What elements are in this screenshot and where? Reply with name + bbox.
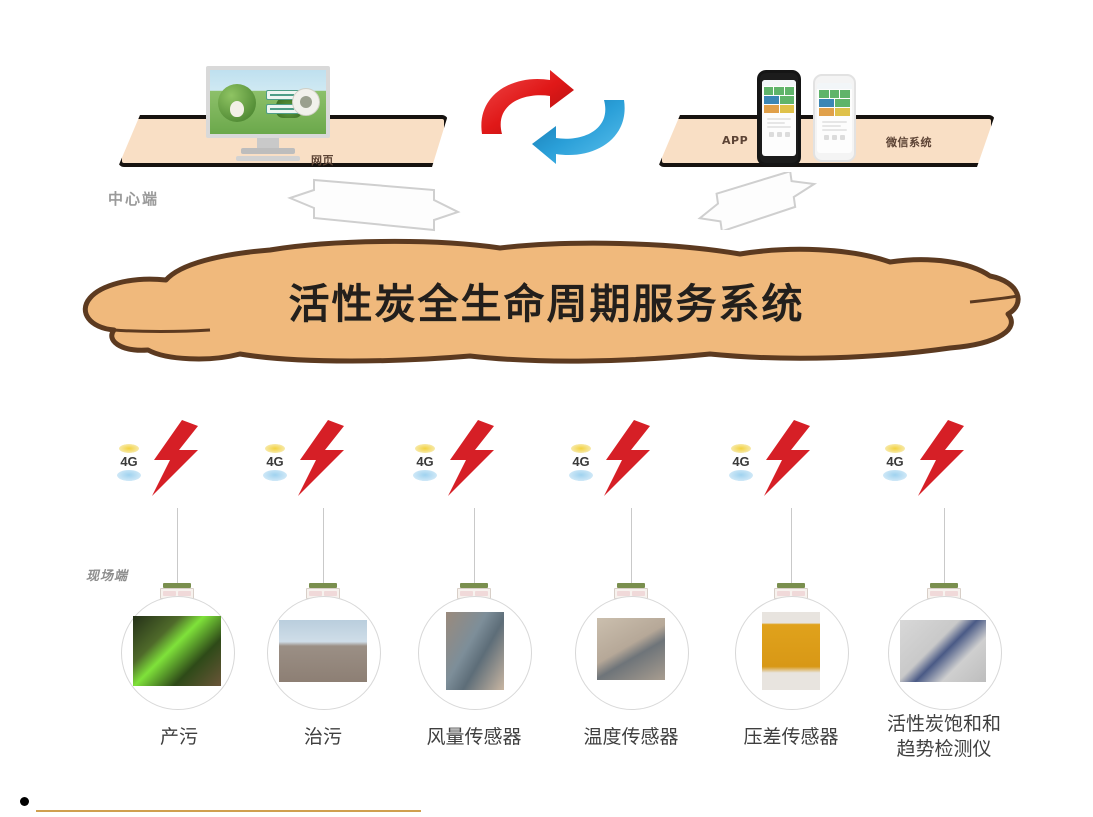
lightning-bolt-icon [600,420,656,496]
wechat-phone [813,74,856,162]
phone-row-green [764,87,794,95]
green-globe-graphic [218,84,256,122]
phone-content [762,114,796,139]
4g-signal-icon: 4G [112,444,146,480]
caption-line: 趋势检测仪 [859,737,1029,762]
phone-row-blue [819,99,850,107]
phone-row-blue [764,96,794,104]
caption-line: 治污 [238,725,408,750]
monitor-base-plate [236,156,300,161]
4g-signal-icon: 4G [564,444,598,480]
node-stem [323,508,324,586]
mobile-app-phone [757,70,801,166]
photo-yellow-differential-pressure-sensor [762,612,820,690]
photo-airflow-sensor-on-pipe [446,612,504,690]
monitor-base [241,148,295,154]
app-label: APP [722,134,748,147]
photo-temperature-probe [597,618,665,680]
4g-label: 4G [564,454,598,469]
page-title: 活性炭全生命周期服务系统 [0,236,1093,364]
lightning-bolt-icon [760,420,816,496]
lightning-bolt-icon [914,420,970,496]
phone-row-green [819,90,850,98]
phone-screen [817,83,852,153]
node-caption-6: 活性炭饱和和 趋势检测仪 [859,712,1029,762]
field-node-5: 4G [716,420,866,495]
field-node-2: 4G [250,420,400,495]
node-caption-5: 压差传感器 [706,725,876,750]
logo-badge [292,88,320,116]
field-node-4: 4G [556,420,706,495]
photo-treatment-facility-building [279,620,367,682]
4g-label: 4G [258,454,292,469]
4g-signal-icon: 4G [724,444,758,480]
monitor-neck [257,138,279,148]
node-caption-3: 风量传感器 [389,725,559,750]
node-caption-2: 治污 [238,725,408,750]
field-node-3: 4G [400,420,550,495]
phone-screen [762,80,796,156]
center-tier-label: 中心端 [108,188,159,209]
phone-content [817,117,852,142]
monitor-screen [206,66,330,138]
phone-status-bar [817,83,852,89]
desktop-monitor [206,66,330,161]
4g-label: 4G [878,454,912,469]
field-node-1: 4G [104,420,254,495]
node-stem [631,508,632,586]
photo-pollution-source-machine [133,616,221,686]
4g-label: 4G [408,454,442,469]
node-stem [944,508,945,586]
node-stem [791,508,792,586]
photo-carbon-saturation-detector [900,620,986,682]
field-node-6: 4G [870,420,1020,495]
wechat-system-label: 微信系统 [886,134,932,150]
right-double-arrow-icon [694,172,822,234]
sync-arrows-icon [468,68,638,168]
phone-row-orange [819,108,850,116]
horizontal-rule [36,810,421,812]
lightning-bolt-icon [294,420,350,496]
lightning-bolt-icon [148,420,204,496]
caption-line: 活性炭饱和和 [859,712,1029,737]
phone-row-orange [764,105,794,113]
node-stem [474,508,475,586]
4g-signal-icon: 4G [408,444,442,480]
4g-label: 4G [724,454,758,469]
left-double-arrow-icon [284,176,464,238]
node-stem [177,508,178,586]
node-caption-4: 温度传感器 [546,725,716,750]
bullet-point [20,797,29,806]
lightning-bolt-icon [444,420,500,496]
4g-label: 4G [112,454,146,469]
4g-signal-icon: 4G [878,444,912,480]
phone-status-bar [762,80,796,86]
caption-line: 温度传感器 [546,725,716,750]
field-tier-label: 现场端 [86,565,128,584]
caption-line: 风量传感器 [389,725,559,750]
caption-line: 压差传感器 [706,725,876,750]
slide-canvas: 网页 中心端 [0,0,1093,817]
4g-signal-icon: 4G [258,444,292,480]
